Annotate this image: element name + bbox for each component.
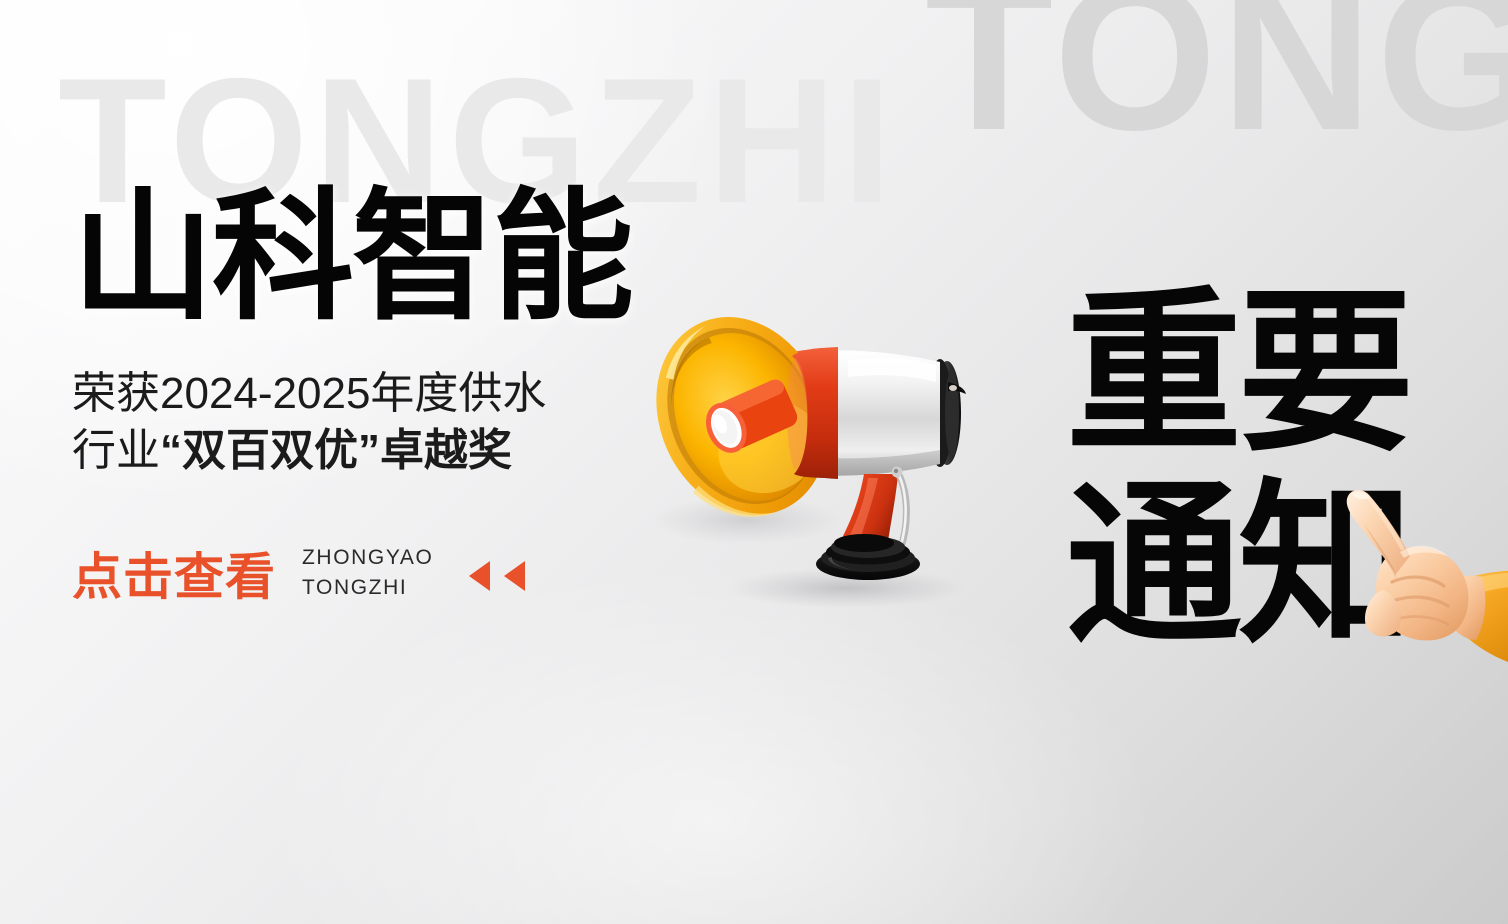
award-subtitle-line-2-quoted: “双百双优” (160, 426, 380, 475)
view-details-button[interactable]: 点击查看 (72, 537, 276, 609)
watermark-tongzhi-secondary: TONGZHI (925, 0, 1508, 162)
megaphone-illustration (596, 258, 1016, 608)
promo-banner: TONGZHI TONGZHI (0, 0, 1508, 924)
award-subtitle-line-2-prefix: 行业 (72, 426, 160, 475)
cta-arrow-group[interactable] (469, 561, 525, 591)
arrow-left-icon[interactable] (504, 561, 525, 591)
background-glow-center (260, 560, 1160, 924)
cta-pinyin-line-2: TONGZHI (302, 573, 433, 603)
pointing-hand-illustration (1330, 478, 1508, 678)
cta-pinyin: ZHONGYAO TONGZHI (302, 543, 433, 604)
arrow-left-icon[interactable] (469, 561, 490, 591)
cta-pinyin-line-1: ZHONGYAO (302, 543, 433, 573)
award-subtitle-line-2-suffix: 卓越奖 (380, 426, 512, 475)
notice-heading-line-1: 重要 (1066, 286, 1410, 462)
